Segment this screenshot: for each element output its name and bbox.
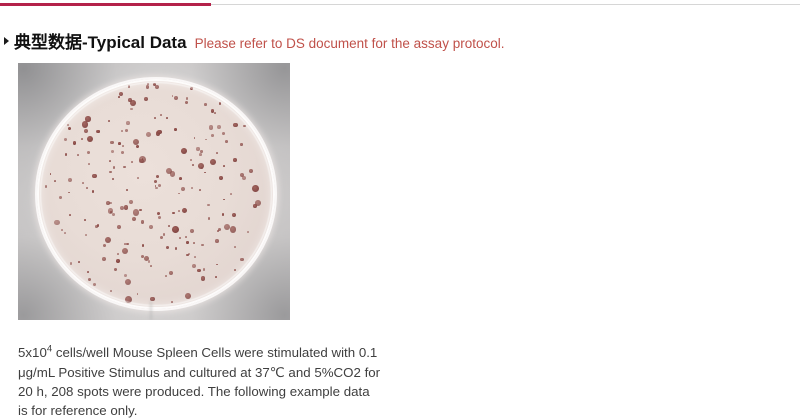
well-spot (123, 166, 126, 169)
well-spot (185, 236, 188, 239)
well-spot (120, 206, 124, 210)
figure-caption: 5x104 cells/well Mouse Spleen Cells were… (18, 343, 382, 420)
well-spot (67, 124, 69, 126)
well-spot (128, 98, 132, 102)
well-spot (82, 182, 84, 184)
well-spot (178, 193, 180, 195)
well-spot (126, 121, 130, 125)
well-spot (156, 175, 159, 178)
well-spot (194, 256, 196, 258)
well-spot (68, 178, 72, 182)
section-heading: 典型数据-Typical Data Please refer to DS doc… (0, 33, 790, 57)
well-spot (102, 257, 106, 261)
well-spot (155, 187, 158, 190)
well-spot (124, 274, 127, 277)
well-spot (125, 129, 128, 132)
well-membrane-disc (37, 79, 275, 309)
well-spot (87, 271, 89, 273)
well-spot (225, 140, 228, 143)
well-spot (223, 199, 225, 201)
well-spot (77, 154, 79, 156)
well-spot (112, 178, 114, 180)
well-spot (132, 217, 136, 221)
well-spot (186, 241, 188, 243)
well-spot (190, 159, 192, 161)
well-spot (54, 180, 56, 182)
well-spot (219, 176, 223, 180)
header-rule-accent (0, 3, 211, 6)
well-spot (109, 202, 112, 205)
well-spot (247, 231, 249, 233)
well-spot (230, 226, 237, 233)
well-spot (136, 145, 139, 148)
well-spot (131, 161, 133, 163)
well-spot (87, 136, 93, 142)
well-spot (253, 204, 256, 207)
well-spot (174, 96, 178, 100)
well-spot (160, 114, 162, 116)
well-spot (172, 212, 175, 215)
well-spot (110, 290, 112, 292)
well-spot (190, 229, 194, 233)
well-spot (201, 276, 205, 280)
well-spot (108, 120, 110, 122)
header-rule (0, 3, 800, 6)
well-spot (175, 247, 178, 250)
well-spot (252, 185, 259, 192)
well-spot (157, 130, 162, 135)
well-spot (54, 220, 59, 225)
well-spot (81, 138, 83, 140)
well-spot (133, 139, 139, 145)
well-spot (240, 143, 242, 145)
well-spot (172, 226, 179, 233)
well-spot (160, 236, 163, 239)
well-spot (88, 163, 90, 165)
well-spot (146, 85, 150, 89)
well-spot (214, 112, 216, 114)
well-spot (84, 219, 86, 221)
well-spot (193, 242, 195, 244)
well-spot (234, 269, 236, 271)
well-spot (109, 160, 111, 162)
well-spot (216, 152, 218, 154)
well-spot (194, 137, 196, 139)
well-spot (240, 258, 243, 261)
well-spot (201, 244, 203, 246)
well-spot (165, 275, 167, 277)
well-spot (169, 271, 173, 275)
well-spot (68, 127, 71, 130)
well-spot (97, 130, 100, 133)
well-spot (179, 237, 181, 239)
well-spot-layer (37, 79, 275, 309)
well-spot (230, 193, 232, 195)
well-spot (166, 117, 168, 119)
well-spot (171, 301, 173, 303)
well-spot (215, 276, 217, 278)
well-spot (65, 153, 68, 156)
well-spot (93, 283, 96, 286)
well-spot (242, 176, 246, 180)
well-spot (204, 103, 207, 106)
well-spot (112, 213, 115, 216)
well-spot (233, 123, 237, 127)
well-spot (68, 192, 70, 194)
well-spot (64, 232, 66, 234)
section-title: 典型数据-Typical Data (14, 33, 187, 53)
well-spot (142, 244, 144, 246)
well-spot (249, 169, 253, 173)
well-spot (141, 220, 145, 224)
well-spot (121, 130, 123, 132)
well-spot (113, 166, 115, 168)
well-spot (163, 233, 165, 235)
well-spot (122, 145, 124, 147)
well-spot (243, 125, 245, 127)
well-spot (158, 184, 161, 187)
well-spot (64, 138, 67, 141)
well-spot (95, 225, 98, 228)
well-spot (154, 180, 157, 183)
elispot-well-image (18, 63, 290, 320)
well-spot (186, 254, 189, 257)
well-spot (125, 296, 132, 303)
well-spot (192, 164, 194, 166)
well-spot (87, 151, 91, 155)
well-spot (125, 279, 132, 286)
well-spot (204, 172, 206, 174)
well-spot (205, 139, 207, 141)
well-spot (217, 125, 221, 129)
well-spot (82, 121, 89, 128)
well-spot (73, 141, 77, 145)
well-spot (216, 264, 218, 266)
well-spot (191, 187, 193, 189)
plate-seam (150, 301, 152, 320)
well-spot (61, 229, 63, 231)
well-spot (203, 268, 206, 271)
well-spot (186, 97, 188, 99)
well-spot (149, 225, 153, 229)
well-spot (118, 142, 121, 145)
well-spot (45, 185, 47, 187)
triangle-marker-icon (0, 37, 14, 45)
well-spot (223, 165, 225, 167)
well-spot (69, 214, 71, 216)
well-spot (116, 259, 120, 263)
well-spot (208, 217, 211, 220)
well-spot (117, 253, 119, 255)
well-spot (207, 204, 210, 207)
well-spot (179, 177, 182, 180)
well-spot (182, 208, 187, 213)
well-spot (137, 293, 139, 295)
well-spot (84, 129, 88, 133)
well-spot (126, 243, 129, 246)
well-spot (150, 265, 152, 267)
well-spot (232, 213, 236, 217)
well-spot (118, 96, 120, 98)
well-spot (126, 189, 128, 191)
well-spot (199, 153, 202, 156)
well-spot (139, 209, 142, 212)
well-spot (199, 189, 201, 191)
well-spot (148, 260, 151, 263)
well-spot (218, 228, 221, 231)
well-spot (210, 159, 216, 165)
well-spot (130, 108, 132, 110)
well-spot (209, 125, 213, 129)
well-spot (215, 239, 219, 243)
well-spot (59, 196, 62, 199)
well-spot (110, 141, 114, 145)
well-spot (181, 148, 187, 154)
well-spot (144, 97, 148, 101)
well-spot (178, 210, 180, 212)
well-spot (197, 269, 201, 273)
well-spot (166, 246, 169, 249)
well-spot (124, 205, 128, 209)
well-spot (103, 244, 107, 248)
well-spot (185, 293, 191, 299)
well-spot (92, 190, 95, 193)
well-spot (117, 225, 121, 229)
well-spot (119, 92, 123, 96)
well-spot (219, 102, 221, 104)
well-spot (234, 246, 236, 248)
well-spot (105, 237, 111, 243)
well-spot (121, 151, 124, 154)
well-spot (85, 234, 87, 236)
well-spot (185, 101, 188, 104)
well-spot (154, 117, 157, 120)
section-note: Please refer to DS document for the assa… (195, 34, 505, 54)
well-spot (181, 187, 185, 191)
well-spot (146, 132, 151, 137)
well-spot (157, 212, 160, 215)
well-spot (50, 173, 52, 175)
well-spot (174, 128, 177, 131)
well-spot (133, 209, 140, 216)
well-spot (222, 132, 225, 135)
well-spot (88, 278, 91, 281)
well-spot (168, 225, 170, 227)
well-spot (233, 158, 237, 162)
well-spot (109, 171, 111, 173)
well-spot (86, 187, 88, 189)
caption-prefix: 5x10 (18, 345, 47, 360)
well-spot (196, 147, 199, 150)
well-spot (192, 264, 196, 268)
well-spot (211, 134, 214, 137)
well-spot (129, 200, 133, 204)
well-spot (92, 174, 96, 178)
well-spot (137, 177, 139, 179)
well-spot (190, 87, 193, 90)
well-spot (78, 261, 80, 263)
well-spot (122, 248, 129, 255)
well-spot (70, 262, 73, 265)
well-spot (198, 163, 204, 169)
well-spot (128, 85, 131, 88)
well-spot (222, 213, 225, 216)
well-spot (114, 268, 118, 272)
well-spot (111, 150, 114, 153)
caption-body: cells/well Mouse Spleen Cells were stimu… (18, 345, 380, 418)
well-spot (158, 216, 161, 219)
